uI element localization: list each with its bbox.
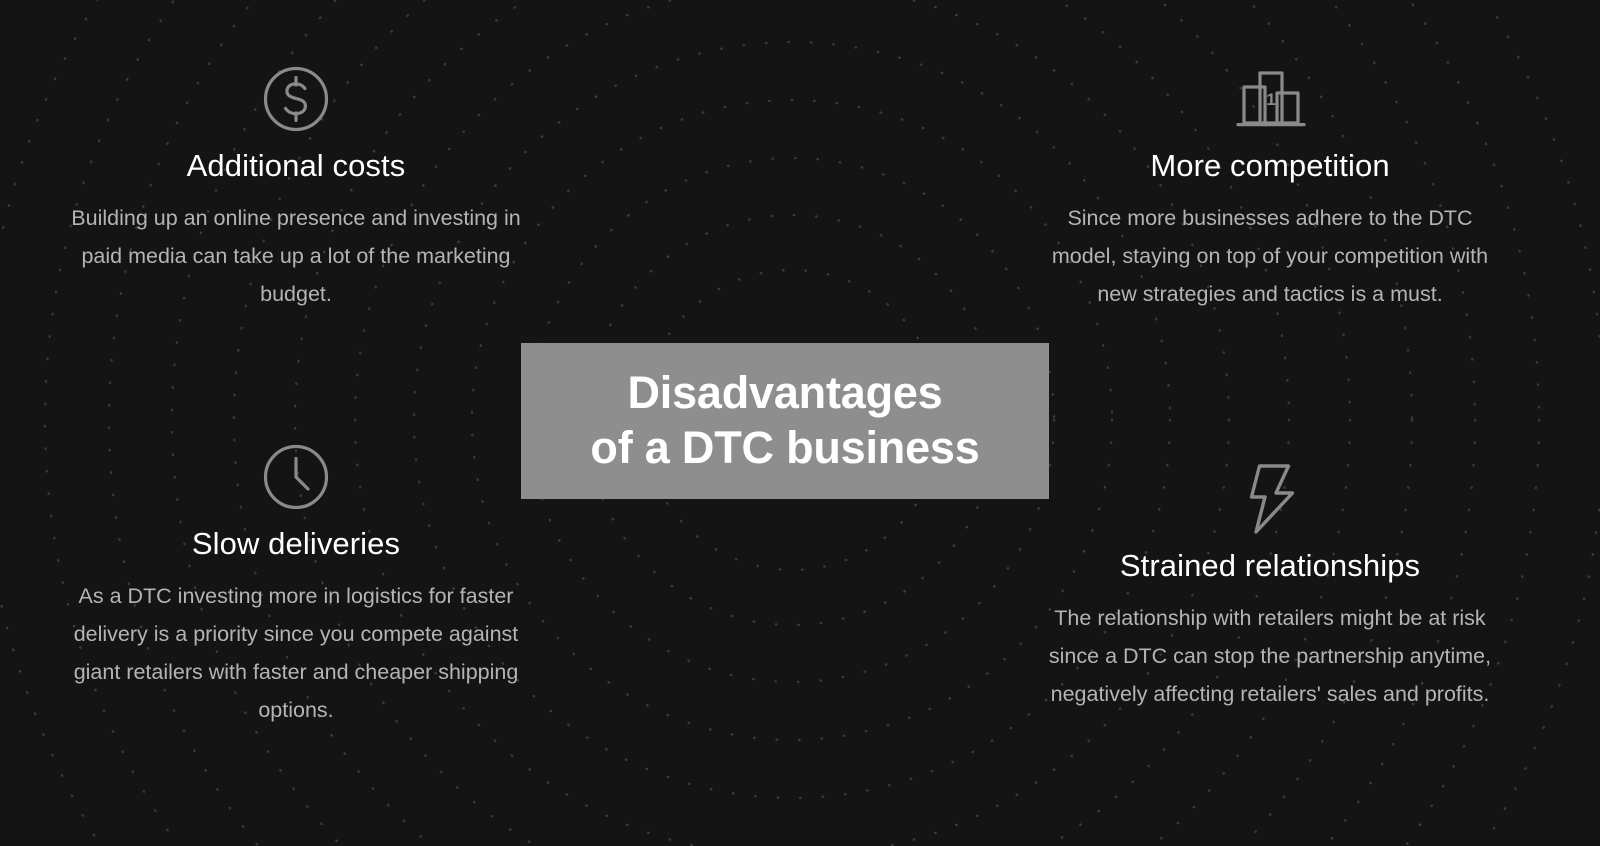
dtc-disadvantages-infographic: Additional costs Building up an online p… [0,0,1600,846]
page-title-line-2: of a DTC business [590,421,979,476]
card-more-competition: 1 More competition Since more businesses… [1020,58,1520,313]
page-title-line-1: Disadvantages [590,366,979,421]
center-title-plate: Disadvantages of a DTC business [521,343,1049,499]
card-body: The relationship with retailers might be… [1033,599,1507,714]
card-title: Additional costs [46,148,546,185]
clock-icon [46,436,546,518]
card-body: Since more businesses adhere to the DTC … [1033,199,1507,314]
card-body: As a DTC investing more in logistics for… [59,577,533,730]
card-title: More competition [1020,148,1520,185]
lightning-bolt-icon [1020,458,1520,540]
dollar-circle-icon [46,58,546,140]
card-body: Building up an online presence and inves… [59,199,533,314]
card-title: Slow deliveries [46,526,546,563]
card-additional-costs: Additional costs Building up an online p… [46,58,546,313]
card-title: Strained relationships [1020,548,1520,585]
podium-first-place-icon: 1 [1020,58,1520,140]
page-title: Disadvantages of a DTC business [578,366,991,476]
card-slow-deliveries: Slow deliveries As a DTC investing more … [46,436,546,730]
podium-rank-label: 1 [1266,90,1275,109]
card-strained-relationships: Strained relationships The relationship … [1020,458,1520,713]
